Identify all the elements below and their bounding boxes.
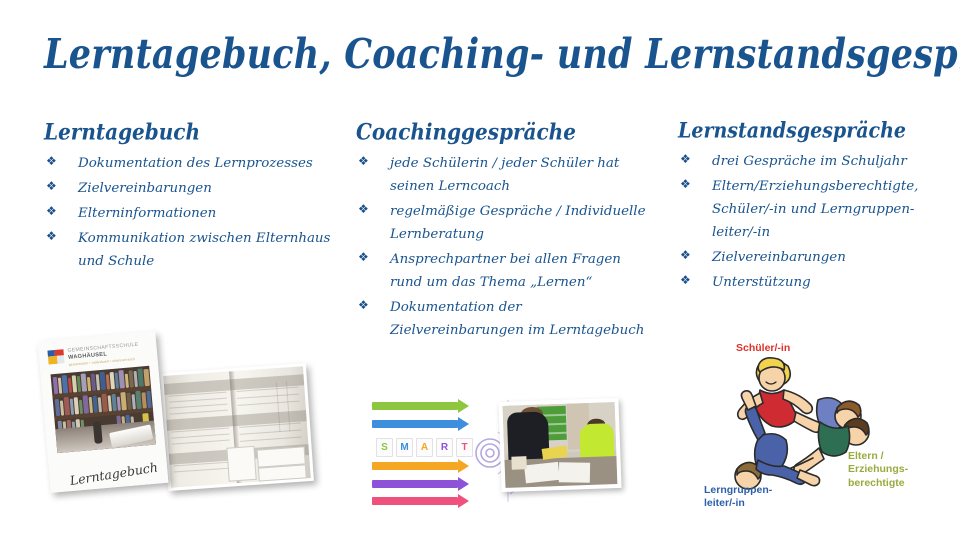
list-item-text: jede Schülerin / jeder Schüler hat seine… — [390, 156, 619, 194]
diamond-bullet-icon: ❖ — [46, 201, 57, 222]
worksheet-paper — [559, 462, 591, 482]
coaching-classroom-photo — [498, 398, 621, 492]
notebook-rule — [172, 440, 230, 445]
list-item: ❖Kommunikation zwischen Elternhaus und S… — [44, 227, 344, 273]
smart-tile-m: M — [396, 438, 413, 457]
diamond-bullet-icon: ❖ — [358, 199, 369, 220]
list-item: ❖Elterninformationen — [44, 202, 344, 225]
notebook-rule — [237, 401, 299, 406]
notebook-rule — [174, 467, 232, 472]
smart-arrow-a — [372, 462, 468, 470]
list-item-text: Elterninformationen — [78, 206, 216, 221]
notebook-form-box — [258, 464, 307, 481]
lerntagebuch-cover-photo: GEMEINSCHAFTSSCHULE WAGHÄUSEL gemeinsam … — [38, 331, 169, 493]
notebook-rule — [172, 434, 230, 439]
column-2-heading: Coachinggespräche — [356, 118, 656, 145]
worksheet-paper — [524, 462, 559, 483]
smart-arrow-t — [372, 497, 468, 505]
diamond-bullet-icon: ❖ — [680, 149, 691, 170]
diamond-bullet-icon: ❖ — [358, 247, 369, 268]
list-item-text: Dokumentation der Zielvereinbarungen im … — [390, 300, 644, 338]
notebook-form-box — [226, 446, 256, 482]
notebook-rule — [237, 394, 299, 399]
smart-tile-r: R — [436, 438, 453, 457]
smart-arrow-m — [372, 420, 468, 428]
list-item: ❖Dokumentation der Zielvereinbarungen im… — [356, 296, 656, 342]
smart-tile-s: S — [376, 438, 393, 457]
list-item: ❖Zielvereinbarungen — [678, 246, 948, 269]
diamond-bullet-icon: ❖ — [46, 226, 57, 247]
column-1-bullet-list: ❖Dokumentation des Lernprozesses ❖Zielve… — [44, 152, 344, 273]
diamond-bullet-icon: ❖ — [680, 270, 691, 291]
column-2-bullet-list: ❖jede Schülerin / jeder Schüler hat sein… — [356, 152, 656, 342]
list-item-text: Unterstützung — [712, 275, 811, 290]
diamond-bullet-icon: ❖ — [46, 176, 57, 197]
diamond-bullet-icon: ❖ — [358, 295, 369, 316]
column-lerntagebuch: Lerntagebuch ❖Dokumentation des Lernproz… — [44, 118, 344, 275]
notebook-rule — [169, 398, 227, 403]
list-item-text: Kommunikation zwischen Elternhaus und Sc… — [78, 231, 330, 269]
booklet-cover: GEMEINSCHAFTSSCHULE WAGHÄUSEL gemeinsam … — [38, 331, 169, 493]
label-eltern: Eltern /Erziehungs-berechtigte — [848, 450, 908, 490]
classroom-scene — [503, 402, 618, 488]
list-item: ❖Ansprechpartner bei allen Fragen rund u… — [356, 248, 656, 294]
slide-canvas: Lerntagebuch, Coaching- und Lernstandsge… — [0, 0, 960, 540]
list-item: ❖Dokumentation des Lernprozesses — [44, 152, 344, 175]
column-lernstandsgespraeche: Lernstandsgespräche ❖drei Gespräche im S… — [678, 118, 948, 296]
list-item-text: regelmäßige Gespräche / Individuelle Ler… — [390, 204, 646, 242]
bookshelf-photo — [51, 366, 157, 453]
booklet-title-handwriting: Lerntagebuch — [69, 459, 159, 488]
list-item-text: Zielvereinbarungen — [712, 250, 846, 265]
open-notebook-photo — [160, 363, 314, 491]
lernstandsgespraech-triangle-group: Schüler/-in Eltern /Erziehungs-berechtig… — [700, 336, 936, 532]
list-item: ❖Eltern/Erziehungsberechtigte, Schüler/-… — [678, 175, 948, 244]
smart-letter-tiles: S M A R T — [376, 438, 473, 457]
page-title: Lerntagebuch, Coaching- und Lernstandsge… — [44, 30, 924, 78]
list-item: ❖jede Schülerin / jeder Schüler hat sein… — [356, 152, 656, 198]
diamond-bullet-icon: ❖ — [358, 151, 369, 172]
label-schueler-text: Schüler/-in — [736, 342, 790, 354]
list-item-text: Dokumentation des Lernprozesses — [78, 156, 313, 171]
notebook-rule — [170, 410, 228, 415]
list-item-text: Zielvereinbarungen — [78, 181, 212, 196]
list-item: ❖regelmäßige Gespräche / Individuelle Le… — [356, 200, 656, 246]
book-stack — [511, 456, 527, 470]
list-item-text: Ansprechpartner bei allen Fragen rund um… — [390, 252, 621, 290]
notebook-rule — [239, 430, 301, 435]
column-3-bullet-list: ❖drei Gespräche im Schuljahr ❖Eltern/Erz… — [678, 150, 948, 294]
smart-arrow-s — [372, 402, 468, 410]
smart-arrow-r — [372, 480, 468, 488]
notebook-rule — [240, 437, 302, 442]
list-item-text: drei Gespräche im Schuljahr — [712, 154, 907, 169]
column-1-heading: Lerntagebuch — [44, 118, 344, 145]
school-logo-icon — [47, 349, 64, 364]
notebook-pages — [163, 366, 310, 487]
list-item: ❖drei Gespräche im Schuljahr — [678, 150, 948, 173]
coaching-image-group: S M A R T — [372, 396, 622, 516]
list-item: ❖Zielvereinbarungen — [44, 177, 344, 200]
column-coachinggespraeche: Coachinggespräche ❖jede Schülerin / jede… — [356, 118, 656, 344]
notebook-rule — [169, 404, 227, 409]
diamond-bullet-icon: ❖ — [680, 174, 691, 195]
label-schueler: Schüler/-in — [736, 342, 790, 355]
list-item-text: Eltern/Erziehungsberechtigte, Schüler/-i… — [712, 179, 918, 240]
list-item: ❖Unterstützung — [678, 271, 948, 294]
diamond-bullet-icon: ❖ — [680, 245, 691, 266]
smart-goals-graphic: S M A R T — [372, 396, 500, 508]
label-lerngruppenleiter: Lerngruppen-leiter/-in — [704, 484, 772, 511]
diamond-bullet-icon: ❖ — [46, 151, 57, 172]
column-3-heading: Lernstandsgespräche — [678, 118, 948, 143]
smart-tile-a: A — [416, 438, 433, 457]
lerntagebuch-image-group: GEMEINSCHAFTSSCHULE WAGHÄUSEL gemeinsam … — [36, 330, 336, 520]
